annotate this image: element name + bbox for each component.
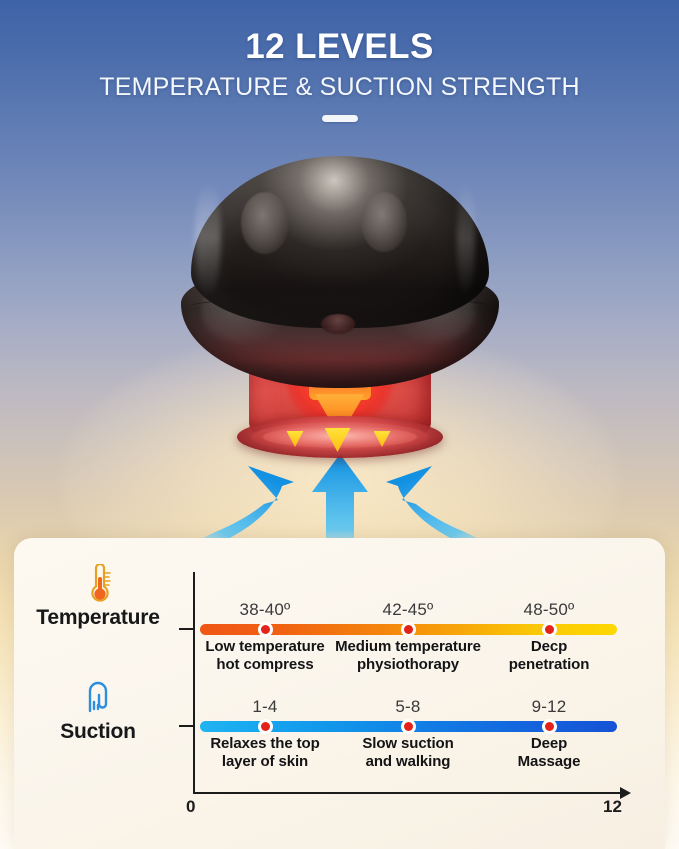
dome-dimple-left [241, 192, 289, 254]
axis-label-max: 12 [603, 797, 622, 817]
temperature-desc-3: Decp penetration [463, 638, 635, 674]
suction-icon [18, 678, 178, 718]
infographic-page: 12 LEVELS TEMPERATURE & SUCTION STRENGTH [0, 0, 679, 849]
temperature-range-3: 48-50º [469, 600, 629, 620]
title-divider [322, 115, 358, 122]
axis-tick-suction [179, 725, 195, 727]
dome-dimple-right [361, 192, 407, 252]
page-title: 12 LEVELS [0, 0, 679, 66]
header: 12 LEVELS TEMPERATURE & SUCTION STRENGTH [0, 0, 679, 122]
dome-edge-highlight-right [457, 178, 475, 298]
row-label-temperature: Temperature [18, 564, 178, 630]
suction-marker-3 [542, 719, 557, 734]
specs-card: Temperature Suction 0 12 38-40º 42-45º [14, 538, 665, 849]
dome-front-nub [321, 314, 355, 334]
suction-desc-3-line1: Deep [463, 735, 635, 753]
temperature-marker-1 [258, 622, 273, 637]
product-image-cupping-massager [175, 148, 505, 478]
temperature-desc-3-line2: penetration [463, 656, 635, 674]
temperature-range-1: 38-40º [185, 600, 345, 620]
device-top-dome [191, 156, 489, 328]
suction-desc-3-line2: Massage [463, 753, 635, 771]
suction-desc-3: Deep Massage [463, 735, 635, 771]
suction-range-3: 9-12 [469, 697, 629, 717]
row-label-temperature-text: Temperature [18, 606, 178, 630]
suction-range-1: 1-4 [185, 697, 345, 717]
page-subtitle: TEMPERATURE & SUCTION STRENGTH [0, 66, 679, 102]
temperature-marker-2 [401, 622, 416, 637]
axis-tick-temperature [179, 628, 195, 630]
dome-edge-highlight-left [195, 178, 221, 298]
temperature-marker-3 [542, 622, 557, 637]
row-label-suction-text: Suction [18, 720, 178, 744]
suction-marker-2 [401, 719, 416, 734]
suction-marker-1 [258, 719, 273, 734]
temperature-range-2: 42-45º [328, 600, 488, 620]
thermometer-icon [18, 564, 178, 604]
axis-label-min: 0 [186, 797, 195, 817]
temperature-desc-3-line1: Decp [463, 638, 635, 656]
axis-horizontal [193, 792, 623, 794]
row-label-suction: Suction [18, 678, 178, 744]
suction-range-2: 5-8 [328, 697, 488, 717]
heat-down-arrows-icon [287, 428, 393, 454]
